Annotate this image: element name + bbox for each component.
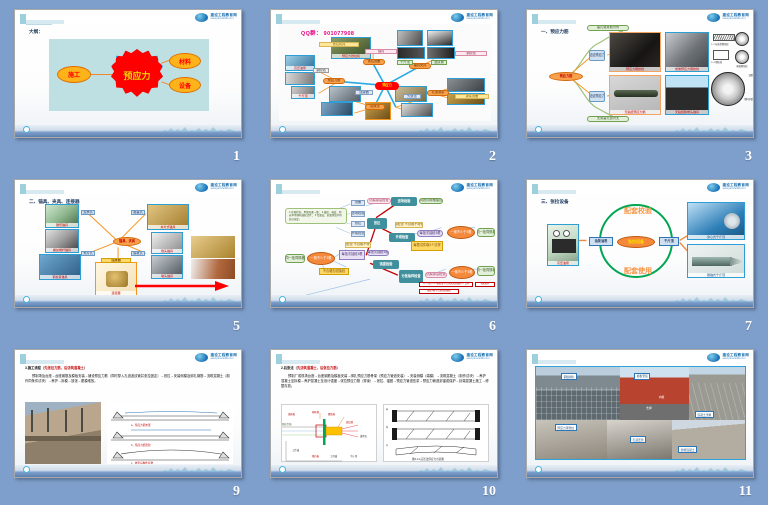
slide-footer	[271, 295, 497, 307]
mindmap-node: 先张法	[403, 94, 421, 99]
slide-number: 6	[489, 319, 496, 335]
mindmap-node: 握裹式	[131, 251, 145, 256]
thumb-photo	[401, 103, 433, 117]
slide-corner-line	[538, 360, 576, 364]
mindmap-center-node: 预应力筋	[549, 72, 583, 81]
svg-text:a): a)	[386, 408, 388, 411]
thumb-photo-highlighted: 连接器	[95, 262, 137, 296]
thumb-photo	[397, 30, 423, 46]
mindmap-node: 设备	[351, 200, 365, 206]
slide-number: 5	[233, 319, 240, 335]
mindmap-node: 夹片式	[81, 251, 95, 256]
mindmap-node: 每批次抽检3根	[367, 250, 389, 256]
mindmap-node: 一般不少于3根	[307, 252, 335, 265]
thumb-photo: 成卷预应力钢绞线	[665, 32, 709, 72]
brand-logo: 建设工程教育网 www.jianshe99.com	[451, 353, 493, 362]
mindmap-node: 一般不少于3根	[449, 266, 475, 279]
slide-footer	[271, 125, 497, 137]
slide-number: 11	[739, 484, 752, 500]
mindmap-node: 支承式	[81, 210, 95, 215]
mindmap-node: 张拉	[367, 218, 387, 229]
section-heading-tail: ）	[337, 366, 340, 370]
thumb-photo	[427, 47, 455, 59]
thumb-photo: 预应力张拉机	[331, 37, 371, 59]
thumb-photo	[191, 236, 235, 258]
mindmap-node: 无粘结预应力筋	[589, 91, 605, 102]
thumb-photo: 无粘结预应力筋	[609, 75, 661, 115]
mindmap-node: 同批同规格抽查	[419, 198, 443, 204]
thumb-photo: 钢丝束锚具	[39, 254, 81, 280]
mindmap-node: 一般不少于3根	[447, 226, 475, 239]
mindmap-node: 有粘结预应力筋	[589, 50, 605, 61]
thumb-photo: 预应力钢绞线	[609, 32, 661, 72]
jianshe-logo-icon	[195, 13, 208, 22]
mindmap-node: 连接器	[101, 258, 131, 263]
thumb-photo: 墩头锚具	[151, 255, 183, 279]
brand-logo: 建设工程教育网 www.jianshe99.com	[195, 353, 237, 362]
thumb-photo: 锥形锚具	[45, 204, 79, 228]
footer-circle-icon	[535, 466, 542, 473]
svg-text:限位板: 限位板	[312, 454, 320, 458]
brand-logo: 建设工程教育网 www.jianshe99.com	[707, 353, 749, 362]
svg-text:图3-14 后张法预应力示意图: 图3-14 后张法预应力示意图	[412, 457, 444, 461]
mindmap-node: 进场检验	[351, 211, 365, 217]
svg-text:螺旋筋: 螺旋筋	[328, 412, 336, 416]
mindmap-node: 每根试件取3个试样	[411, 241, 443, 251]
slide-thumbnail-1[interactable]: 建设工程教育网 www.jianshe99.com 大纲： 预应力 施工 材料 …	[14, 9, 242, 138]
mindmap-node: 外观检查 不合格不得使用	[395, 222, 423, 228]
svg-text:c): c)	[386, 444, 388, 447]
mindmap-node: 钢绞线	[455, 51, 487, 56]
skyline-decoration-icon	[673, 295, 747, 302]
mindmap-node: 后张法	[365, 104, 385, 110]
mindmap-node: 孔道灌浆	[427, 90, 449, 96]
thumb-photo: 高压油泵	[547, 224, 579, 266]
thumb-photo	[397, 47, 425, 59]
svg-text:波纹管: 波纹管	[346, 420, 354, 424]
footer-circle-icon	[23, 296, 30, 303]
mindmap-node: 张拉设备	[363, 59, 385, 65]
diagram-strand-figure	[713, 50, 729, 60]
slide-footer	[527, 465, 753, 477]
slide-thumbnail-2[interactable]: 建设工程教育网 www.jianshe99.com QQ群： 901077908	[270, 9, 498, 138]
section-heading-highlight: 先浇筑混凝土，后张拉力筋	[297, 366, 337, 370]
skyline-decoration-icon	[161, 465, 235, 472]
thumb-photo: 高压油泵	[285, 55, 315, 71]
thumb-photo	[447, 78, 485, 92]
photo-tag: 模板安装	[634, 373, 650, 380]
slide-thumbnail-9[interactable]: 建设工程教育网 www.jianshe99.com 3.施工流程（先张拉力筋，后…	[14, 349, 242, 478]
collage-photo	[672, 420, 745, 459]
svg-text:b): b)	[386, 426, 388, 429]
logo-url: www.jianshe99.com	[210, 358, 237, 361]
jianshe-logo-icon	[195, 353, 208, 362]
thumb-photo	[191, 259, 235, 279]
diagram-node-equipment: 设备	[169, 77, 201, 93]
svg-text:千斤顶: 千斤顶	[350, 454, 358, 458]
slide-footer	[527, 295, 753, 307]
slide-cell-7[interactable]: 建设工程教育网 www.jianshe99.com 三、张拉设备 配套校验 配套…	[512, 170, 768, 340]
svg-text:工作锚: 工作锚	[292, 448, 300, 452]
mindmap-node: 波纹管	[431, 60, 447, 65]
svg-text:灌浆孔: 灌浆孔	[360, 434, 368, 438]
mindmap-node: 防腐涂层检查	[367, 198, 391, 204]
mindmap-node: 无需留孔道为无	[587, 116, 629, 122]
brand-logo: 建设工程教育网 www.jianshe99.com	[451, 13, 493, 22]
section-heading-highlight: 先张拉力筋，后浇筑混凝土	[44, 366, 84, 370]
slide-cell-11[interactable]: 建设工程教育网 www.jianshe99.com	[512, 340, 768, 505]
mindmap-node: 每批取样	[475, 282, 495, 287]
thumb-photo: 无粘结筋端头锚具	[665, 75, 709, 115]
footer-circle-icon	[279, 296, 286, 303]
footer-circle-icon	[535, 296, 542, 303]
slide-thumbnail-11[interactable]: 建设工程教育网 www.jianshe99.com	[526, 349, 754, 478]
mindmap-node: 预应力筋	[323, 78, 345, 84]
mindmap-node: 连接器	[355, 90, 373, 95]
thumb-photo: 千斤顶	[291, 86, 315, 99]
footer-circle-icon	[23, 466, 30, 473]
svg-text:c、放张后构件反拱: c、放张后构件反拱	[131, 461, 153, 464]
mindmap-canvas: QQ群： 901077908	[279, 24, 491, 121]
section-heading-tail: ）	[84, 366, 87, 370]
skyline-decoration-icon	[417, 295, 491, 302]
footer-circle-icon	[279, 126, 286, 133]
mindmap-node: 锥塞式	[131, 210, 145, 215]
slide-thumbnail-7[interactable]: 建设工程教育网 www.jianshe99.com 三、张拉设备 配套校验 配套…	[526, 179, 754, 308]
thumb-photo: 穿心式千斤顶	[687, 202, 745, 240]
page-title: 大纲：	[29, 29, 43, 35]
thumb-photo: 螺丝端杆锚具	[45, 229, 79, 253]
mindmap-node: 同一批同规格	[285, 254, 305, 263]
photo-tag: 预应力束张拉	[555, 424, 577, 431]
slide-thumbnail-6[interactable]: 建设工程教育网 www.jianshe99.com	[270, 179, 498, 308]
mindmap-node: 进场检验	[391, 197, 417, 206]
jianshe-logo-icon	[451, 13, 464, 22]
collage-photo	[620, 367, 689, 420]
thumb-photo	[285, 72, 315, 85]
figure-panel-right: a) b) c) 图3-14 后张法预应力示意图	[383, 404, 489, 462]
figure-label: 1×7 标准型钢绞线	[711, 43, 737, 47]
mindmap-node: 同一批同规格	[477, 228, 495, 237]
photo-tag: 支撑	[645, 406, 654, 411]
slide-cell-9[interactable]: 建设工程教育网 www.jianshe99.com 3.施工流程（先张拉力筋，后…	[0, 340, 256, 505]
mindmap-node: 灌浆设备	[455, 94, 489, 99]
mindmap-node: 张拉	[351, 221, 365, 227]
emphasis-arrow-icon	[135, 280, 231, 294]
slide-corner-line	[26, 360, 64, 364]
slide-corner-line-2	[26, 24, 52, 25]
mindmap-node: 同一批同规格	[477, 266, 495, 276]
mindmap-node: 每批次抽检3根	[339, 250, 365, 260]
figure-panel: a、预应力筋布置 b、预应力筋张拉 c、放张后构件反拱	[107, 402, 233, 464]
slide-thumbnail-5[interactable]: 建设工程教育网 www.jianshe99.com 二、锚具、夹具、连接器 锥形…	[14, 179, 242, 308]
diagram-canvas: 预应力 施工 材料 设备	[49, 39, 209, 111]
section-heading: 2.后张法（	[281, 366, 297, 370]
slide-cell-10[interactable]: 建设工程教育网 www.jianshe99.com 2.后张法（先浇筑混凝土，后…	[256, 340, 512, 505]
mindmap-node: 千斤顶	[397, 60, 413, 65]
photo-tag: 混凝土浇筑	[695, 411, 714, 418]
mindmap-node: 锚具	[365, 49, 397, 54]
slide-number: 2	[489, 149, 496, 165]
collage-photo	[536, 367, 620, 420]
slide-cell-5[interactable]: 建设工程教育网 www.jianshe99.com 二、锚具、夹具、连接器 锥形…	[0, 170, 256, 340]
mindmap-node: 防腐涂层检查	[425, 272, 447, 278]
slide-corner-line	[282, 360, 320, 364]
skyline-decoration-icon	[673, 465, 747, 472]
photo-tag: 钢筋绑扎	[561, 373, 577, 380]
mindmap-node: 不合格加倍抽检	[319, 268, 349, 275]
mindmap-node: 留孔道穿筋为有	[587, 25, 629, 31]
slide-thumbnail-3[interactable]: 建设工程教育网 www.jianshe99.com 一、预应力筋	[526, 9, 754, 138]
thumb-photo	[427, 30, 453, 46]
figure-label: 模拔钢绞线	[731, 65, 753, 69]
thumb-photo: 夹片式锚具	[147, 204, 189, 230]
slide-number: 10	[482, 484, 496, 500]
diagram-strand-figure	[713, 34, 735, 41]
logo-url: www.jianshe99.com	[466, 18, 493, 21]
figure-panel-left: 锚垫板 喇叭管 螺旋筋 预应力筋 波纹管 灌浆孔 工作锚 限位板 工具锚 千斤顶	[281, 404, 377, 462]
diagram-node-construction: 施工	[57, 66, 91, 83]
diagram-node-material: 材料	[169, 53, 201, 69]
section-heading: 3.施工流程（	[25, 366, 44, 370]
mindmap-node: 1×7 7根 1×3 3根取值 不合格则加倍抽检3个试样	[419, 282, 473, 287]
mindmap-center-node: 预应力	[375, 82, 399, 90]
jianshe-logo-icon	[707, 353, 720, 362]
slide-footer	[15, 125, 241, 137]
mindmap-node: 张拉机具	[319, 42, 359, 47]
svg-text:工具锚: 工具锚	[330, 454, 338, 458]
slide-number: 7	[745, 319, 752, 335]
photo-tag: 封端混凝土	[678, 446, 697, 453]
photo-tag: 内模	[657, 395, 666, 400]
svg-text:喇叭管: 喇叭管	[312, 410, 320, 414]
skyline-decoration-icon	[417, 465, 491, 472]
svg-text:a、预应力筋布置: a、预应力筋布置	[131, 423, 151, 427]
diagram-center-node: 预应力	[111, 49, 163, 101]
slide-cell-6[interactable]: 建设工程教育网 www.jianshe99.com	[256, 170, 512, 340]
mindmap-center-node: 锚具、夹具	[113, 237, 141, 246]
slide-number: 3	[745, 149, 752, 165]
brand-logo: 建设工程教育网 www.jianshe99.com	[195, 13, 237, 22]
slide-number: 9	[233, 484, 240, 500]
thumb-photo	[321, 102, 353, 116]
thumb-photo: 锥锚式千斤顶	[687, 244, 745, 278]
photo-collage: 钢筋绑扎 模板安装 内模 支撑 混凝土浇筑 预应力束张拉 孔道压浆 封端混凝土	[535, 366, 746, 460]
figure-label: 塑料护套	[725, 98, 753, 102]
figure-label: 油脂	[725, 74, 753, 78]
mindmap-note: 1.外观检查，用钢尺逐一量； 2.硬度、强度、伸长率等随机抽取试件； 3.弯曲度…	[285, 208, 347, 224]
logo-url: www.jianshe99.com	[210, 18, 237, 21]
body-text: 预制场及台座→台座钢筋及模板安装→铺设预应力筋（同时穿入孔道波纹管并张拉固定）→…	[25, 374, 233, 384]
slide-footer	[271, 465, 497, 477]
logo-url: www.jianshe99.com	[466, 358, 493, 361]
svg-text:预应力筋: 预应力筋	[282, 422, 292, 426]
diagram-section-icon	[735, 32, 749, 46]
diagram-section-icon	[735, 50, 749, 64]
logo-url: www.jianshe99.com	[722, 358, 749, 361]
skyline-decoration-icon	[161, 125, 235, 132]
slide-thumbnail-10[interactable]: 建设工程教育网 www.jianshe99.com 2.后张法（先浇筑混凝土，后…	[270, 349, 498, 478]
slide-footer	[15, 295, 241, 307]
mindmap-node: 外观检查	[351, 231, 365, 237]
slide-cell-2[interactable]: 建设工程教育网 www.jianshe99.com QQ群： 901077908	[256, 0, 512, 170]
slide-number: 1	[233, 149, 240, 165]
body-text: 预制厂或现场台座→台座钢筋及模板安装→绑扎预应力筋骨架（预应力管道安装）→安装侧…	[281, 374, 489, 389]
mindmap-node: 钢绞线	[313, 68, 329, 73]
slide-thumbnail-grid[interactable]: 建设工程教育网 www.jianshe99.com 大纲： 预应力 施工 材料 …	[0, 0, 768, 505]
mindmap-node: 外观检查 不合格不得使用	[345, 242, 371, 248]
jianshe-logo-icon	[451, 353, 464, 362]
photo-tag: 孔道压浆	[630, 436, 646, 443]
slide-footer	[527, 125, 753, 137]
mindmap-node: 每批次抽检3根	[417, 230, 443, 237]
footer-circle-icon	[23, 126, 30, 133]
mindmap-node: 强度检验	[373, 260, 399, 269]
thumb-photo: 镦头锚具	[151, 232, 183, 254]
svg-text:b、预应力筋张拉: b、预应力筋张拉	[131, 443, 151, 447]
mindmap-node: 抽查1根 不合格加倍抽检	[419, 289, 459, 294]
slide-footer	[15, 465, 241, 477]
skyline-decoration-icon	[161, 295, 235, 302]
skyline-decoration-icon	[673, 125, 747, 132]
svg-text:锚垫板: 锚垫板	[288, 412, 296, 416]
thumb-photo	[25, 402, 101, 464]
slide-cell-1[interactable]: 建设工程教育网 www.jianshe99.com 大纲： 预应力 施工 材料 …	[0, 0, 256, 170]
slide-cell-3[interactable]: 建设工程教育网 www.jianshe99.com 一、预应力筋	[512, 0, 768, 170]
footer-circle-icon	[535, 126, 542, 133]
skyline-decoration-icon	[417, 125, 491, 132]
footer-circle-icon	[279, 466, 286, 473]
